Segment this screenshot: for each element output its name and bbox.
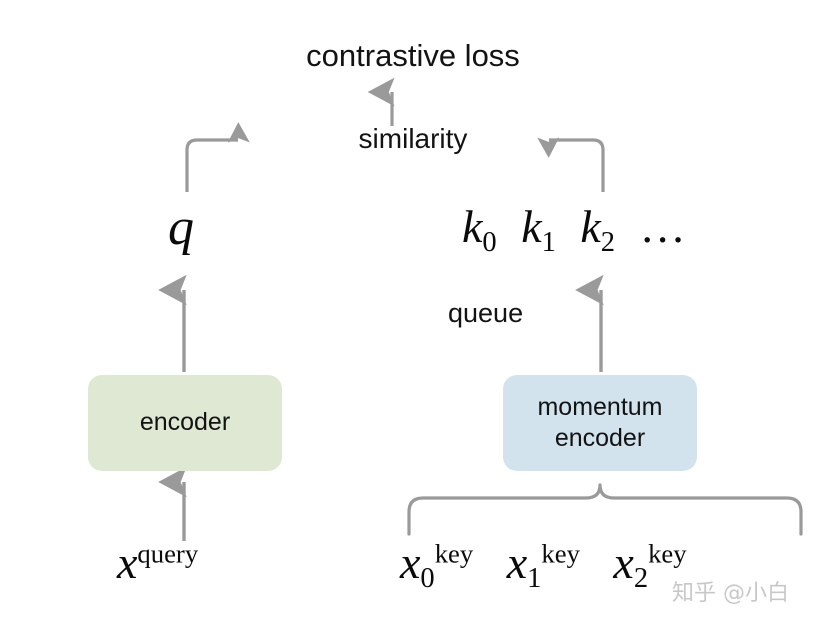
similarity-label: similarity (0, 123, 826, 155)
math-x-key0: x0key (400, 537, 473, 588)
math-x-key0-subscript: 0 (420, 563, 434, 594)
contrastive-loss-label: contrastive loss (0, 38, 826, 74)
math-x-key1-variable: x (507, 537, 527, 588)
math-k0-variable: k (462, 201, 482, 252)
math-k2-subscript: 2 (601, 227, 615, 258)
math-k0: k0 (462, 201, 497, 252)
encoder-box[interactable]: encoder (88, 375, 282, 471)
math-x-query-variable: x (117, 537, 137, 588)
momentum-encoder-box[interactable]: momentum encoder (503, 375, 697, 471)
math-k0-subscript: 0 (482, 227, 496, 258)
math-k2-variable: k (580, 201, 600, 252)
math-k1-subscript: 1 (542, 227, 556, 258)
math-x-key-sequence: x0key x1key x2key (400, 536, 709, 595)
math-x-query: xquery (117, 536, 198, 589)
math-x-key1-subscript: 1 (527, 563, 541, 594)
math-k1: k1 (521, 201, 556, 252)
momentum-encoder-label-line1: momentum (537, 393, 662, 421)
math-k1-variable: k (521, 201, 541, 252)
queue-label: queue (448, 298, 523, 329)
math-x-key2-subscript: 2 (634, 563, 648, 594)
diagram-canvas: contrastive loss similarity queue q k0 k… (0, 0, 826, 634)
math-q-variable: q (168, 199, 194, 256)
math-x-key2-superscript: key (648, 539, 687, 569)
math-q: q (168, 198, 194, 257)
momentum-encoder-label-line2: encoder (555, 424, 645, 452)
math-x-key0-superscript: key (435, 539, 474, 569)
math-x-key1: x1key (507, 537, 580, 588)
math-x-key1-superscript: key (541, 539, 580, 569)
momentum-encoder-box-label: momentum encoder (537, 392, 662, 455)
math-key-sequence: k0 k1 k2 … (462, 200, 686, 259)
encoder-box-label: encoder (140, 407, 230, 438)
math-x-query-superscript: query (137, 539, 198, 569)
math-k2: k2 (580, 201, 615, 252)
math-keys-ellipsis: … (640, 201, 686, 252)
math-x-key2-variable: x (613, 537, 633, 588)
math-x-key0-variable: x (400, 537, 420, 588)
watermark: 知乎 @小白 (672, 575, 789, 607)
brace-xkeys (409, 485, 801, 534)
